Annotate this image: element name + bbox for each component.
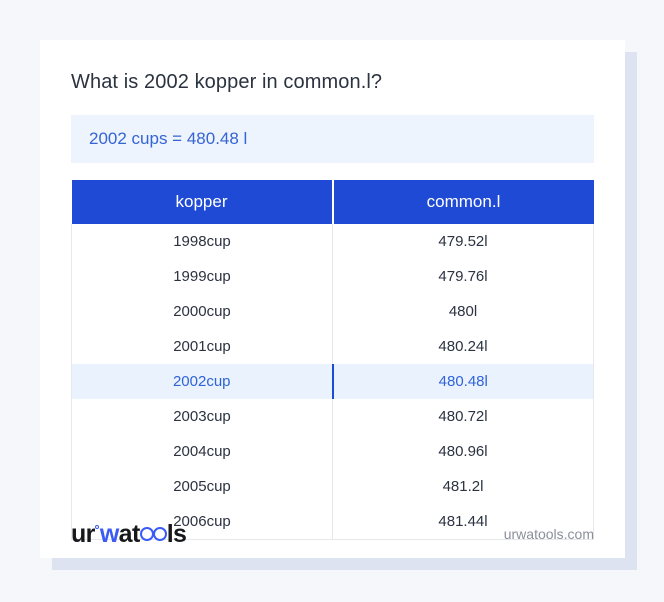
- logo-dot-icon: [95, 525, 99, 529]
- table-row[interactable]: 1998cup 479.52l: [72, 224, 594, 259]
- cell-kopper: 2001cup: [72, 329, 333, 364]
- card-footer: ur w at ls urwatools.com: [71, 510, 594, 558]
- conversion-result-banner: 2002 cups = 480.48 l: [71, 115, 594, 163]
- table-row[interactable]: 1999cup 479.76l: [72, 259, 594, 294]
- table-row[interactable]: 2004cup 480.96l: [72, 434, 594, 469]
- logo-text-part3: at: [119, 522, 140, 547]
- cell-kopper: 2000cup: [72, 294, 333, 329]
- cell-common-l: 480.96l: [333, 434, 594, 469]
- table-body: 1998cup 479.52l 1999cup 479.76l 2000cup …: [72, 224, 594, 540]
- logo-glasses-icon: [140, 527, 167, 541]
- table-row[interactable]: 2001cup 480.24l: [72, 329, 594, 364]
- table-header: kopper common.l: [72, 180, 594, 224]
- cell-common-l: 480.24l: [333, 329, 594, 364]
- cell-common-l: 479.52l: [333, 224, 594, 259]
- table-row-highlighted[interactable]: 2002cup 480.48l: [72, 364, 594, 399]
- conversion-card: What is 2002 kopper in common.l? 2002 cu…: [40, 40, 625, 558]
- cell-common-l: 480.72l: [333, 399, 594, 434]
- table-row[interactable]: 2005cup 481.2l: [72, 469, 594, 504]
- logo-text-part4: ls: [167, 522, 187, 547]
- cell-common-l: 479.76l: [333, 259, 594, 294]
- cell-kopper: 2002cup: [72, 364, 333, 399]
- page-root: What is 2002 kopper in common.l? 2002 cu…: [0, 0, 664, 602]
- cell-kopper: 1999cup: [72, 259, 333, 294]
- cell-kopper: 1998cup: [72, 224, 333, 259]
- table-row[interactable]: 2003cup 480.72l: [72, 399, 594, 434]
- table-row[interactable]: 2000cup 480l: [72, 294, 594, 329]
- column-header-kopper[interactable]: kopper: [72, 180, 333, 224]
- cell-kopper: 2004cup: [72, 434, 333, 469]
- logo-ring-left-icon: [140, 527, 154, 541]
- urwatools-logo[interactable]: ur w at ls: [71, 522, 186, 547]
- cell-common-l: 481.2l: [333, 469, 594, 504]
- cell-kopper: 2003cup: [72, 399, 333, 434]
- card-content: What is 2002 kopper in common.l? 2002 cu…: [40, 40, 625, 540]
- site-url-label: urwatools.com: [504, 526, 594, 542]
- page-title: What is 2002 kopper in common.l?: [71, 70, 594, 94]
- cell-kopper: 2005cup: [72, 469, 333, 504]
- logo-text-part2: w: [100, 522, 119, 547]
- cell-common-l: 480l: [333, 294, 594, 329]
- table-header-row: kopper common.l: [72, 180, 594, 224]
- logo-text-part1: ur: [71, 522, 95, 547]
- column-header-common-l[interactable]: common.l: [333, 180, 594, 224]
- logo-ring-right-icon: [153, 527, 167, 541]
- conversion-table: kopper common.l 1998cup 479.52l 1999cup …: [71, 180, 594, 540]
- cell-common-l: 480.48l: [333, 364, 594, 399]
